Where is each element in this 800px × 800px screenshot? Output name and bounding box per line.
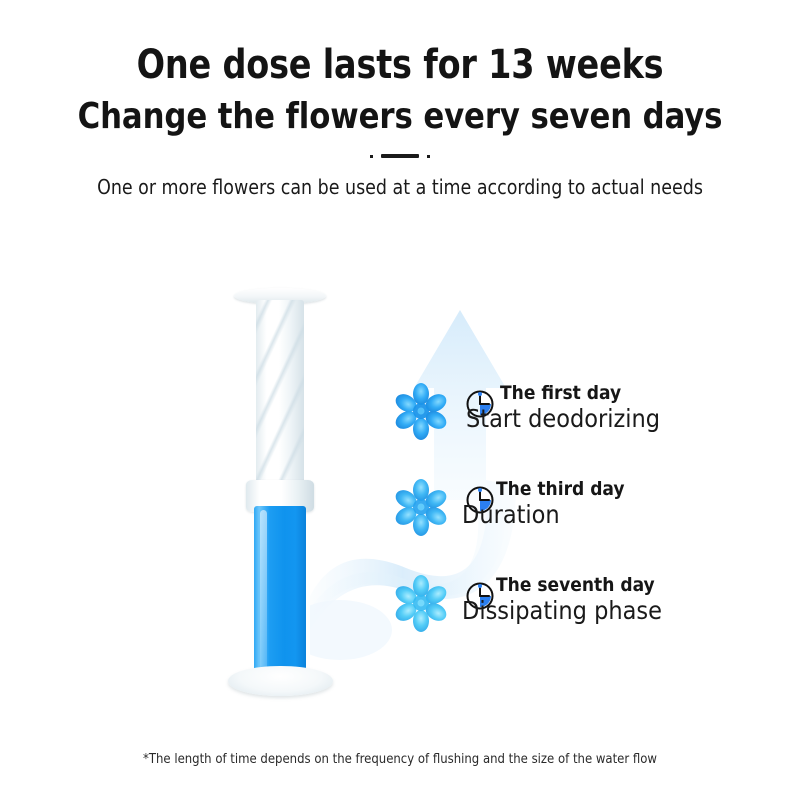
day-label: The first day bbox=[500, 382, 790, 406]
timeline-row: The third day Duration bbox=[392, 474, 792, 570]
divider-bar bbox=[381, 154, 419, 158]
timeline-text: The seventh day Dissipating phase bbox=[496, 574, 786, 598]
phase-label: Duration bbox=[462, 500, 560, 530]
header: One dose lasts for 13 weeks Change the f… bbox=[0, 0, 800, 199]
day-label: The seventh day bbox=[496, 574, 786, 598]
timeline-row: The first day Start deodorizing bbox=[392, 378, 792, 474]
flower-icon bbox=[392, 382, 450, 440]
divider-ornament bbox=[368, 151, 432, 161]
timeline-text: The first day Start deodorizing bbox=[500, 382, 790, 406]
timeline-row: The seventh day Dissipating phase bbox=[392, 570, 792, 666]
phase-label: Dissipating phase bbox=[462, 596, 662, 626]
phase-label: Start deodorizing bbox=[466, 404, 660, 434]
flower-icon bbox=[392, 574, 450, 632]
infographic-page: One dose lasts for 13 weeks Change the f… bbox=[0, 0, 800, 800]
subtitle: One or more flowers can be used at a tim… bbox=[12, 161, 788, 199]
timeline: The first day Start deodorizing bbox=[392, 378, 792, 666]
divider-dot-left bbox=[370, 155, 373, 158]
product-applicator bbox=[222, 288, 362, 710]
base-flange bbox=[228, 666, 333, 696]
headline-secondary: Change the flowers every seven days bbox=[20, 87, 780, 137]
gel-barrel-highlight bbox=[260, 510, 267, 672]
day-label: The third day bbox=[496, 478, 786, 502]
divider-dot-right bbox=[427, 155, 430, 158]
timeline-text: The third day Duration bbox=[496, 478, 786, 502]
flower-icon bbox=[392, 478, 450, 536]
plunger-shaft bbox=[256, 300, 304, 488]
headline-primary: One dose lasts for 13 weeks bbox=[28, 0, 772, 87]
footnote: *The length of time depends on the frequ… bbox=[0, 752, 800, 767]
